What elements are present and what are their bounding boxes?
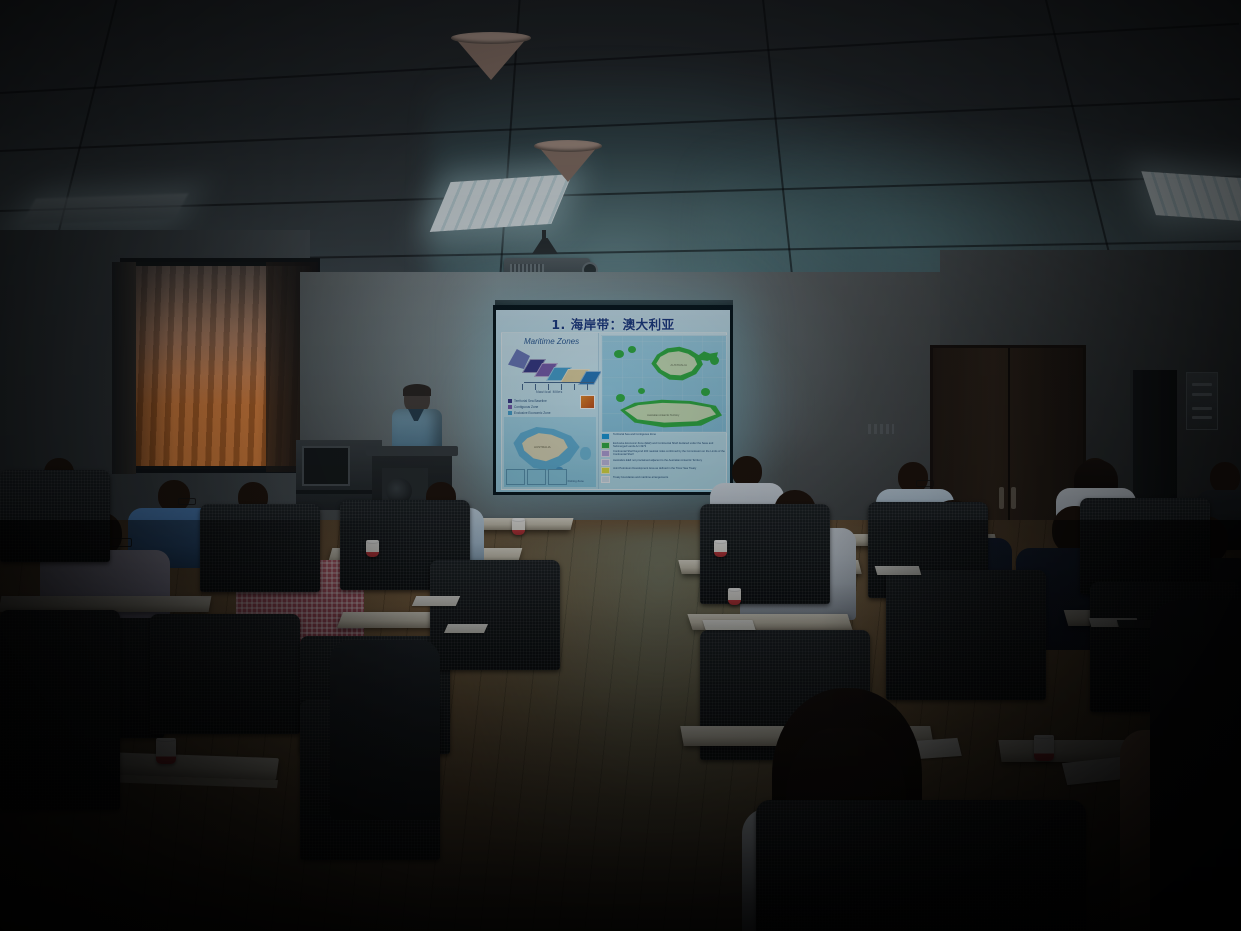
map-insets: [506, 469, 567, 485]
legend-swatch-extended-shelf: [601, 450, 610, 457]
australia-eez-outline: AUSTRALIA: [648, 346, 704, 386]
attendee-head: [1210, 462, 1240, 493]
legend-row: Australia's EEZ not proclaimed adjacent …: [601, 459, 725, 466]
slide-content: Maritime Zones Nautical Miles Territoria…: [501, 332, 727, 490]
cocos-islands-zone: [628, 346, 636, 353]
ceiling-speaker-icon-1: [455, 38, 527, 80]
paper-cup[interactable]: [714, 540, 727, 557]
wall-marking: [868, 424, 894, 434]
antarctic-territory-label: Australian Antarctic Territory: [647, 414, 679, 417]
legend-item: Exclusive Economic Zone: [508, 411, 594, 415]
maritime-zones-title: Maritime Zones: [524, 337, 579, 346]
new-zealand-shape: [580, 447, 591, 460]
legend-text: Australia's EEZ not proclaimed adjacent …: [613, 459, 702, 462]
ceiling-speaker-icon-2: [538, 146, 598, 182]
map-inset-3: [548, 469, 567, 485]
map-inset-1: [506, 469, 525, 485]
lecture-hall-photo: 1. 海岸带：澳大利亚 Maritime Zones Nautical Mile…: [0, 0, 1241, 931]
map-inset-2: [527, 469, 546, 485]
legend-swatch: [508, 411, 512, 415]
legend-label: Territorial Sea Baseline: [514, 399, 547, 403]
australia-label: AUSTRALIA: [670, 363, 687, 367]
island-zone-extra: [638, 388, 645, 394]
slide-left-panel: Maritime Zones Nautical Miles Territoria…: [502, 333, 599, 489]
ceiling-light-panel-right: [1141, 171, 1241, 223]
legend-row: Exclusive Economic Zone (EEZ) and Contin…: [601, 442, 725, 449]
zone-axis-label: Nautical Miles: [536, 390, 563, 394]
legend-label: Exclusive Economic Zone: [514, 411, 551, 415]
legend-swatch-jpda: [601, 467, 610, 474]
australia-maritime-boundary-map: AUSTRALIA Australian Antarctic Territory: [601, 335, 727, 433]
floor-vignette: [0, 560, 1241, 931]
slide-thumbnail-image: [580, 395, 595, 409]
zone-axis-line: [524, 382, 594, 383]
desk-row-4-left: [479, 518, 574, 530]
legend-swatch-territorial-sea: [601, 433, 610, 440]
ceiling-light-panel-center: [430, 174, 573, 232]
eyeglasses-icon: [916, 480, 934, 487]
legend-swatch-treaty: [601, 476, 610, 483]
slide-title: 1. 海岸带：澳大利亚: [496, 314, 730, 333]
legend-swatch-eez: [601, 442, 610, 449]
presentation-slide: 1. 海岸带：澳大利亚 Maritime Zones Nautical Mile…: [496, 310, 730, 492]
legend-text: Territorial Sea and Contiguous Zone: [613, 433, 656, 436]
presenter-hair: [403, 384, 431, 396]
legend-row: Joint Petroleum Development Area as defi…: [601, 467, 725, 474]
legend-label: Contiguous Zone: [514, 405, 538, 409]
legend-row: Continental Shelf beyond 200 nautical mi…: [601, 450, 725, 457]
macquarie-island-zone: [701, 388, 710, 396]
legend-text: Continental Shelf beyond 200 nautical mi…: [613, 450, 725, 456]
legend-text: Exclusive Economic Zone (EEZ) and Contin…: [613, 442, 725, 448]
australia-land-label: AUSTRALIA: [534, 445, 551, 449]
eyeglasses-icon: [178, 498, 196, 505]
curtain-edge-left: [112, 262, 136, 474]
legend-text: Joint Petroleum Development Area as defi…: [613, 467, 696, 470]
christmas-island-zone: [614, 350, 624, 358]
legend-swatch: [508, 399, 512, 403]
paper-cup[interactable]: [512, 518, 525, 535]
norfolk-island-zone: [710, 356, 719, 365]
legend-swatch-antarctic: [601, 459, 610, 466]
legend-swatch: [508, 405, 512, 409]
slide-right-panel: AUSTRALIA Australian Antarctic Territory: [599, 333, 726, 489]
wall-notice-sign: [1186, 372, 1218, 430]
map-colour-legend: Territorial Sea and Contiguous Zone Excl…: [601, 433, 725, 484]
australia-fishing-zone-map: AUSTRALIA Australia Fishing Zone: [504, 417, 596, 487]
legend-text: Treaty boundaries and maritime arrangeme…: [613, 476, 668, 479]
legend-row: Territorial Sea and Contiguous Zone: [601, 433, 725, 440]
australian-antarctic-territory: Australian Antarctic Territory: [618, 398, 722, 428]
av-monitor-icon: [302, 446, 350, 486]
ceiling-light-panel-far-left: [21, 193, 188, 224]
legend-row: Treaty boundaries and maritime arrangeme…: [601, 476, 725, 483]
